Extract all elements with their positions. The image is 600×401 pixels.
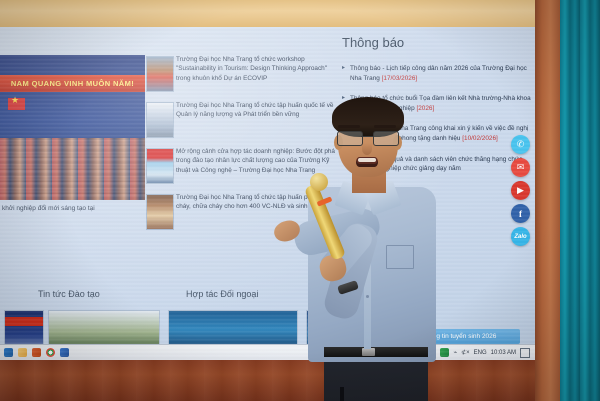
- windows-start-icon[interactable]: [4, 348, 13, 357]
- promo-photo[interactable]: NAM QUANG VINH MUÔN NĂM!: [0, 55, 145, 200]
- card-red-banner: [5, 317, 43, 326]
- folder-icon[interactable]: [18, 348, 27, 357]
- wall-upper-panel: [0, 0, 556, 27]
- news-thumbnail: [146, 102, 174, 138]
- language-indicator[interactable]: ENG: [474, 350, 487, 356]
- promo-banner-text: NAM QUANG VINH MUÔN NĂM!: [0, 75, 145, 92]
- youtube-icon[interactable]: ▶: [511, 181, 530, 200]
- microphone-head: [310, 173, 328, 191]
- news-item-text: Trường Đại học Nha Trang tổ chức worksho…: [176, 55, 336, 83]
- facebook-icon[interactable]: f: [511, 204, 530, 223]
- promo-crowd-people: [0, 138, 145, 200]
- screenshot-stage: NAM QUANG VINH MUÔN NĂM! khởi nghiệp đổi…: [0, 0, 600, 401]
- news-item[interactable]: Trường Đại học Nha Trang tổ chức worksho…: [146, 55, 336, 93]
- word-icon[interactable]: [60, 348, 69, 357]
- trouser-seam: [340, 387, 344, 401]
- news-thumbnail: [146, 194, 174, 230]
- social-rail: ✆ ✉ ▶ f Zalo: [511, 135, 535, 250]
- phone-icon[interactable]: ✆: [511, 135, 530, 154]
- bullet-icon: ▸: [342, 64, 345, 73]
- section-header-training[interactable]: Tin tức Đào tạo: [38, 289, 100, 299]
- email-icon[interactable]: ✉: [511, 158, 530, 177]
- speaker-belt: [324, 347, 428, 357]
- shirt-pocket: [386, 245, 414, 269]
- notices-heading: Thông báo: [342, 35, 532, 50]
- notice-item[interactable]: ▸ Thông báo - Lịch tiếp công dân năm 202…: [342, 64, 532, 83]
- notice-text: Thông báo - Lịch tiếp công dân năm 2026 …: [350, 65, 527, 82]
- taskbar-app-icons: [0, 348, 69, 357]
- vietnam-flag-icon: [8, 98, 25, 110]
- taskbar-clock[interactable]: 10:03 AM: [491, 350, 516, 356]
- speaker-teeth: [358, 158, 376, 162]
- teal-curtain: [560, 0, 600, 401]
- powerpoint-icon[interactable]: [32, 348, 41, 357]
- notification-icon[interactable]: [520, 348, 530, 358]
- speaker-mouth: [356, 157, 378, 167]
- speaker-eyebrow-left: [338, 125, 360, 128]
- section-header-cooperation[interactable]: Hợp tác Đối ngoại: [186, 289, 258, 299]
- glasses-lens-left: [337, 131, 363, 146]
- promo-caption: khởi nghiệp đổi mới sáng tạo tại: [2, 205, 145, 213]
- shirt-button: [366, 295, 369, 298]
- news-thumbnail: [146, 56, 174, 92]
- promo-column: NAM QUANG VINH MUÔN NĂM! khởi nghiệp đổi…: [0, 55, 145, 225]
- glasses-lens-right: [373, 131, 399, 146]
- notice-date: [17/03/2026]: [382, 75, 418, 82]
- news-thumbnail: [146, 148, 174, 184]
- belt-buckle: [362, 348, 375, 356]
- chrome-icon[interactable]: [46, 348, 55, 357]
- glasses-bridge: [361, 136, 373, 137]
- speaker-person: [290, 95, 470, 401]
- speaker-nose: [362, 143, 372, 155]
- speaker-eyebrow-right: [374, 125, 396, 128]
- wall-wood-column: [535, 0, 563, 401]
- zalo-icon[interactable]: Zalo: [511, 227, 530, 246]
